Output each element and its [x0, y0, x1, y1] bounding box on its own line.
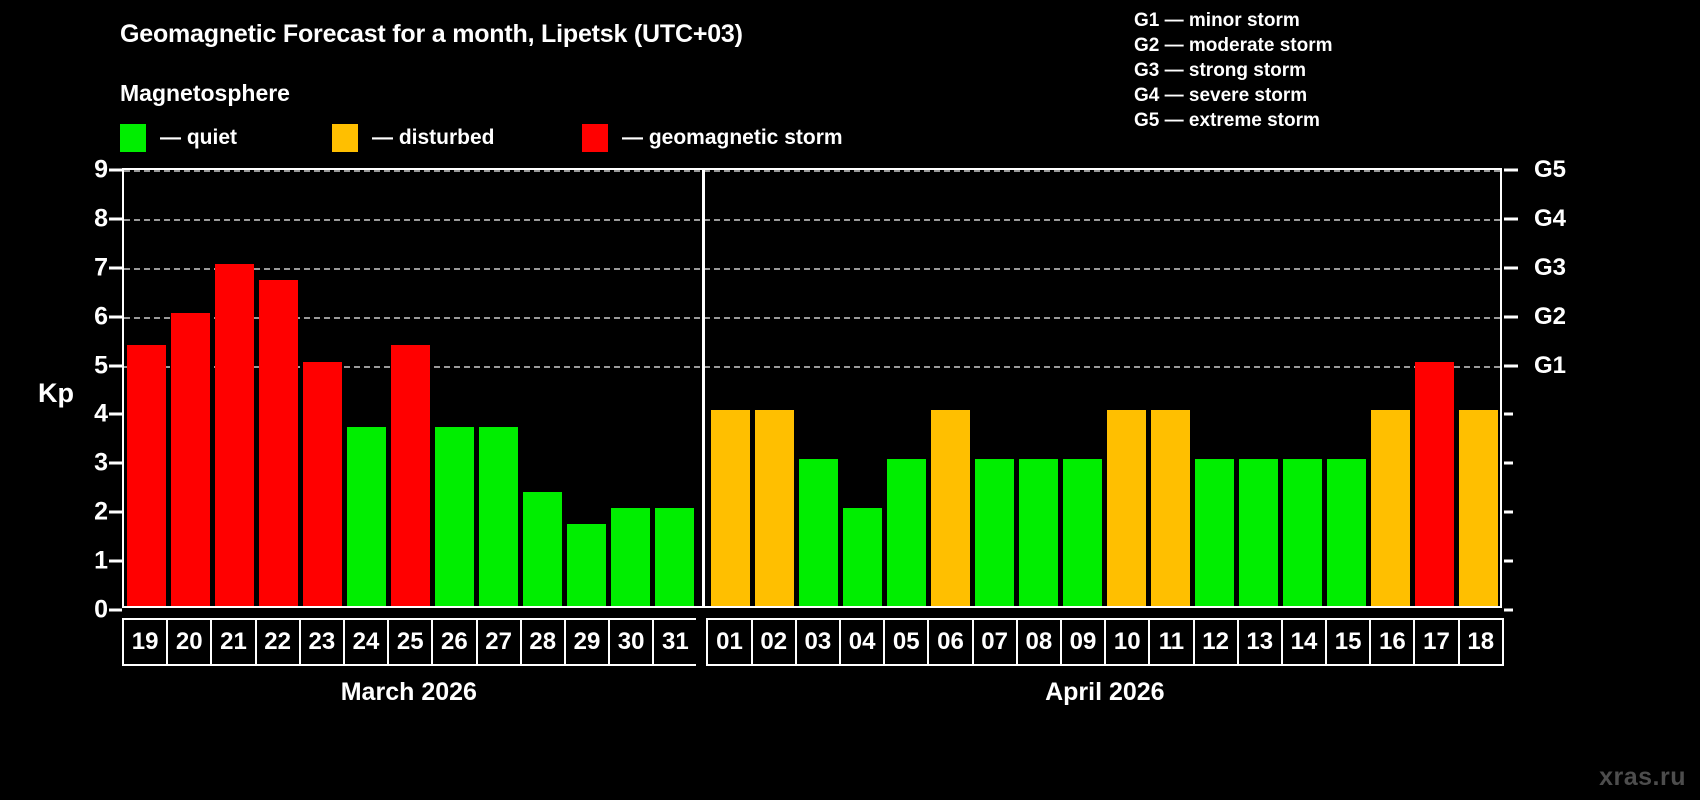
y-tick-mark-2 — [109, 511, 122, 514]
date-label-18: 18 — [1458, 618, 1504, 666]
legend-item-1: — disturbed — [332, 124, 495, 152]
date-label-29: 29 — [564, 618, 610, 666]
date-label-09: 09 — [1060, 618, 1106, 666]
bar-slot-08 — [1016, 170, 1060, 606]
bar-slot-10 — [1104, 170, 1148, 606]
y-tick-mark-4 — [109, 413, 122, 416]
y-tick-mark-3 — [109, 462, 122, 465]
bar — [887, 459, 926, 606]
y-tick-mark-1 — [109, 560, 122, 563]
y-tick-label-9: 9 — [94, 156, 108, 185]
bar-slot-11 — [1148, 170, 1192, 606]
date-label-19: 19 — [122, 618, 168, 666]
legend-item-label: — disturbed — [372, 126, 495, 150]
bar — [1063, 459, 1102, 606]
bar — [171, 313, 210, 606]
g-tick-mark-G1 — [1504, 364, 1518, 367]
bar-slot-03 — [796, 170, 840, 606]
bar — [843, 508, 882, 606]
y-tick-label-0: 0 — [94, 596, 108, 625]
legend-item-label: — geomagnetic storm — [622, 126, 843, 150]
bar — [1239, 459, 1278, 606]
storm-scale-row-5: G5 — extreme storm — [1134, 108, 1333, 133]
y-tick-mark-6 — [109, 315, 122, 318]
y-tick-label-7: 7 — [94, 253, 108, 282]
legend-item-0: — quiet — [120, 124, 237, 152]
bar-slot-19 — [124, 170, 168, 606]
chart-plot-area — [122, 168, 1502, 608]
g-tick-label-G2: G2 — [1534, 303, 1566, 331]
bar-slot-01 — [708, 170, 752, 606]
date-label-27: 27 — [476, 618, 522, 666]
bar — [567, 524, 606, 606]
bar-slot-20 — [168, 170, 212, 606]
bar — [655, 508, 694, 606]
bar — [523, 492, 562, 606]
g-tick-mark-G4 — [1504, 217, 1518, 220]
month-caption-1: April 2026 — [708, 678, 1502, 707]
bar-slot-21 — [212, 170, 256, 606]
y-tick-mark-0 — [109, 609, 122, 612]
bar-slot-24 — [344, 170, 388, 606]
date-label-23: 23 — [299, 618, 345, 666]
date-label-06: 06 — [927, 618, 973, 666]
storm-scale-row-2: G2 — moderate storm — [1134, 33, 1333, 58]
bar-slot-14 — [1280, 170, 1324, 606]
date-label-20: 20 — [166, 618, 212, 666]
y-tick-label-5: 5 — [94, 351, 108, 380]
bar-slot-25 — [388, 170, 432, 606]
g-tick-mark-G3 — [1504, 266, 1518, 269]
g-axis-minor-tick-2 — [1504, 511, 1513, 514]
storm-scale-row-1: G1 — minor storm — [1134, 8, 1333, 33]
storm-scale-row-3: G3 — strong storm — [1134, 58, 1333, 83]
bar — [611, 508, 650, 606]
bar-slot-17 — [1412, 170, 1456, 606]
date-label-07: 07 — [972, 618, 1018, 666]
orange-swatch-icon — [332, 124, 358, 152]
y-tick-mark-9 — [109, 169, 122, 172]
bar-slot-02 — [752, 170, 796, 606]
date-axis: 1920212223242526272829303101020304050607… — [122, 618, 1502, 666]
date-label-08: 08 — [1016, 618, 1062, 666]
date-label-22: 22 — [255, 618, 301, 666]
bar — [711, 410, 750, 606]
y-tick-mark-5 — [109, 364, 122, 367]
storm-scale-row-4: G4 — severe storm — [1134, 83, 1333, 108]
bar — [799, 459, 838, 606]
legend-item-2: — geomagnetic storm — [582, 124, 843, 152]
g-tick-label-G4: G4 — [1534, 205, 1566, 233]
date-label-26: 26 — [431, 618, 477, 666]
month-caption-0: March 2026 — [122, 678, 696, 707]
y-tick-label-3: 3 — [94, 449, 108, 478]
bar — [1019, 459, 1058, 606]
bar — [1151, 410, 1190, 606]
g-axis-minor-tick-0 — [1504, 609, 1513, 612]
bar — [435, 427, 474, 606]
y-tick-label-1: 1 — [94, 547, 108, 576]
bar-slot-27 — [476, 170, 520, 606]
date-label-17: 17 — [1413, 618, 1459, 666]
bar — [391, 345, 430, 606]
bar-slot-07 — [972, 170, 1016, 606]
bar — [1371, 410, 1410, 606]
bar-slot-13 — [1236, 170, 1280, 606]
bar-slot-04 — [840, 170, 884, 606]
bar — [1327, 459, 1366, 606]
y-axis-label: Kp — [38, 378, 74, 409]
bar-slot-28 — [520, 170, 564, 606]
bar-slot-23 — [300, 170, 344, 606]
bar — [931, 410, 970, 606]
month-divider — [702, 170, 705, 606]
bar-slot-05 — [884, 170, 928, 606]
legend-item-label: — quiet — [160, 126, 237, 150]
date-label-11: 11 — [1148, 618, 1194, 666]
g-tick-label-G1: G1 — [1534, 352, 1566, 380]
bar-slot-26 — [432, 170, 476, 606]
date-label-16: 16 — [1369, 618, 1415, 666]
g-scale-axis: G1G2G3G4G5 — [1504, 168, 1624, 612]
y-tick-label-6: 6 — [94, 302, 108, 331]
bar — [1107, 410, 1146, 606]
date-label-21: 21 — [210, 618, 256, 666]
bar — [347, 427, 386, 606]
date-label-04: 04 — [839, 618, 885, 666]
date-label-15: 15 — [1325, 618, 1371, 666]
date-label-01: 01 — [706, 618, 752, 666]
date-label-25: 25 — [387, 618, 433, 666]
bar-slot-09 — [1060, 170, 1104, 606]
bar — [975, 459, 1014, 606]
date-label-28: 28 — [520, 618, 566, 666]
date-label-12: 12 — [1193, 618, 1239, 666]
date-label-14: 14 — [1281, 618, 1327, 666]
y-tick-label-2: 2 — [94, 498, 108, 527]
bar — [1459, 410, 1498, 606]
date-label-30: 30 — [608, 618, 654, 666]
bar — [215, 264, 254, 606]
g-tick-label-G3: G3 — [1534, 254, 1566, 282]
bar-slot-12 — [1192, 170, 1236, 606]
bar — [1283, 459, 1322, 606]
bar-slot-22 — [256, 170, 300, 606]
bar — [1195, 459, 1234, 606]
bar — [1415, 362, 1454, 606]
g-tick-mark-G2 — [1504, 315, 1518, 318]
date-label-02: 02 — [751, 618, 797, 666]
bar — [259, 280, 298, 606]
green-swatch-icon — [120, 124, 146, 152]
y-tick-label-8: 8 — [94, 204, 108, 233]
date-label-24: 24 — [343, 618, 389, 666]
g-axis-minor-tick-3 — [1504, 462, 1513, 465]
bar — [127, 345, 166, 606]
bar-slot-29 — [564, 170, 608, 606]
bar — [303, 362, 342, 606]
g-tick-label-G5: G5 — [1534, 156, 1566, 184]
y-tick-label-4: 4 — [94, 400, 108, 429]
date-label-31: 31 — [652, 618, 698, 666]
date-label-05: 05 — [883, 618, 929, 666]
watermark: xras.ru — [1599, 763, 1686, 792]
date-label-10: 10 — [1104, 618, 1150, 666]
bar-slot-31 — [652, 170, 696, 606]
bar — [479, 427, 518, 606]
red-swatch-icon — [582, 124, 608, 152]
bar-series — [124, 170, 1500, 606]
bar-slot-18 — [1456, 170, 1500, 606]
date-label-03: 03 — [795, 618, 841, 666]
bar-slot-06 — [928, 170, 972, 606]
y-tick-mark-8 — [109, 217, 122, 220]
bar-slot-30 — [608, 170, 652, 606]
date-label-13: 13 — [1237, 618, 1283, 666]
storm-scale-legend: G1 — minor stormG2 — moderate stormG3 — … — [1134, 8, 1333, 133]
bar-slot-15 — [1324, 170, 1368, 606]
page-title: Geomagnetic Forecast for a month, Lipets… — [120, 20, 743, 49]
bar-slot-16 — [1368, 170, 1412, 606]
g-axis-minor-tick-4 — [1504, 413, 1513, 416]
g-axis-minor-tick-1 — [1504, 560, 1513, 563]
g-tick-mark-G5 — [1504, 169, 1518, 172]
chart-subtitle: Magnetosphere — [120, 80, 290, 107]
y-tick-mark-7 — [109, 266, 122, 269]
bar — [755, 410, 794, 606]
